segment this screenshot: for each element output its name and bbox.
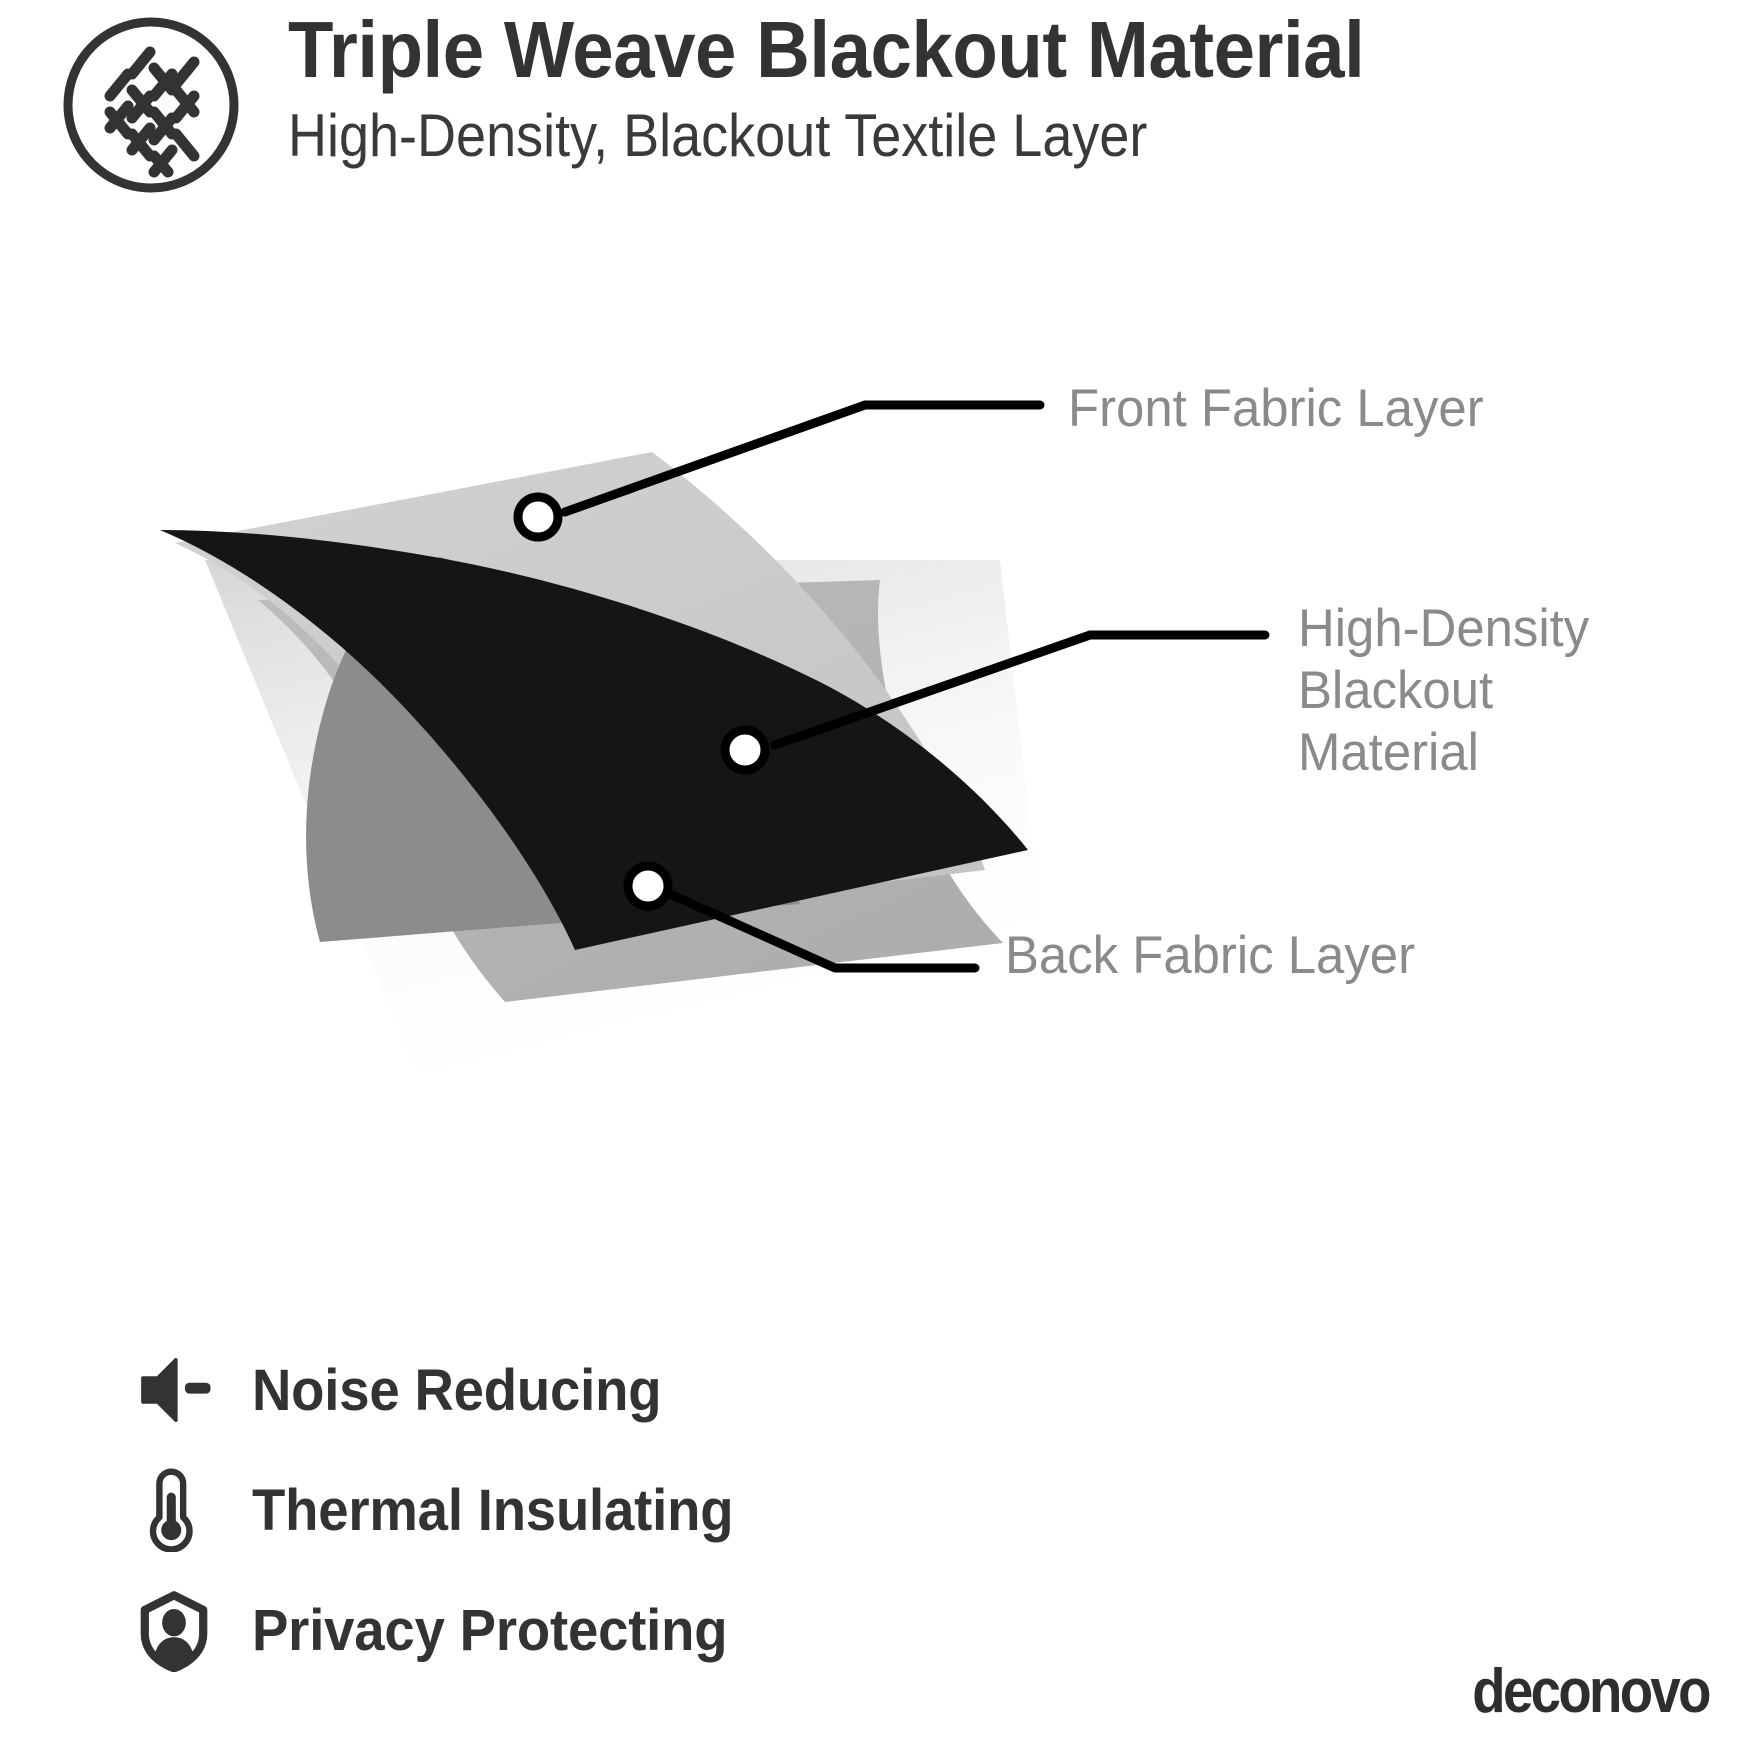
- feature-list: Noise Reducing Thermal Insulating Privac…: [132, 1330, 1132, 1690]
- callout-line: Front Fabric Layer: [1068, 378, 1484, 440]
- page-title: Triple Weave Blackout Material: [288, 10, 1590, 90]
- callout-label-back-fabric: Back Fabric Layer: [1005, 925, 1415, 987]
- leader-marker-back: [628, 866, 668, 906]
- callout-line: Material: [1298, 722, 1589, 784]
- feature-row-noise-reducing: Noise Reducing: [132, 1330, 1132, 1450]
- header: Triple Weave Blackout Material High-Dens…: [0, 0, 1745, 210]
- page-subtitle: High-Density, Blackout Textile Layer: [288, 104, 1548, 167]
- callout-label-blackout-material: High-Density Blackout Material: [1298, 598, 1589, 784]
- callout-label-front-fabric: Front Fabric Layer: [1068, 378, 1484, 440]
- shield-person-icon: [132, 1584, 224, 1676]
- speaker-mute-icon: [132, 1344, 224, 1436]
- leader-marker-mid: [725, 730, 765, 770]
- weave-pattern-icon: [58, 12, 244, 198]
- callout-line: Blackout: [1298, 660, 1589, 722]
- feature-label: Privacy Protecting: [252, 1597, 727, 1664]
- leader-marker-front: [518, 497, 558, 537]
- brand-logo-deconovo: deconovo: [1472, 1656, 1709, 1727]
- feature-label: Thermal Insulating: [252, 1477, 733, 1544]
- feature-row-thermal-insulating: Thermal Insulating: [132, 1450, 1132, 1570]
- header-text-block: Triple Weave Blackout Material High-Dens…: [288, 10, 1688, 167]
- feature-row-privacy-protecting: Privacy Protecting: [132, 1570, 1132, 1690]
- callout-line: Back Fabric Layer: [1005, 925, 1415, 987]
- thermometer-icon: [132, 1464, 224, 1556]
- layered-material-diagram: Front Fabric Layer High-Density Blackout…: [0, 330, 1745, 1120]
- feature-label: Noise Reducing: [252, 1357, 661, 1424]
- callout-line: High-Density: [1298, 598, 1589, 660]
